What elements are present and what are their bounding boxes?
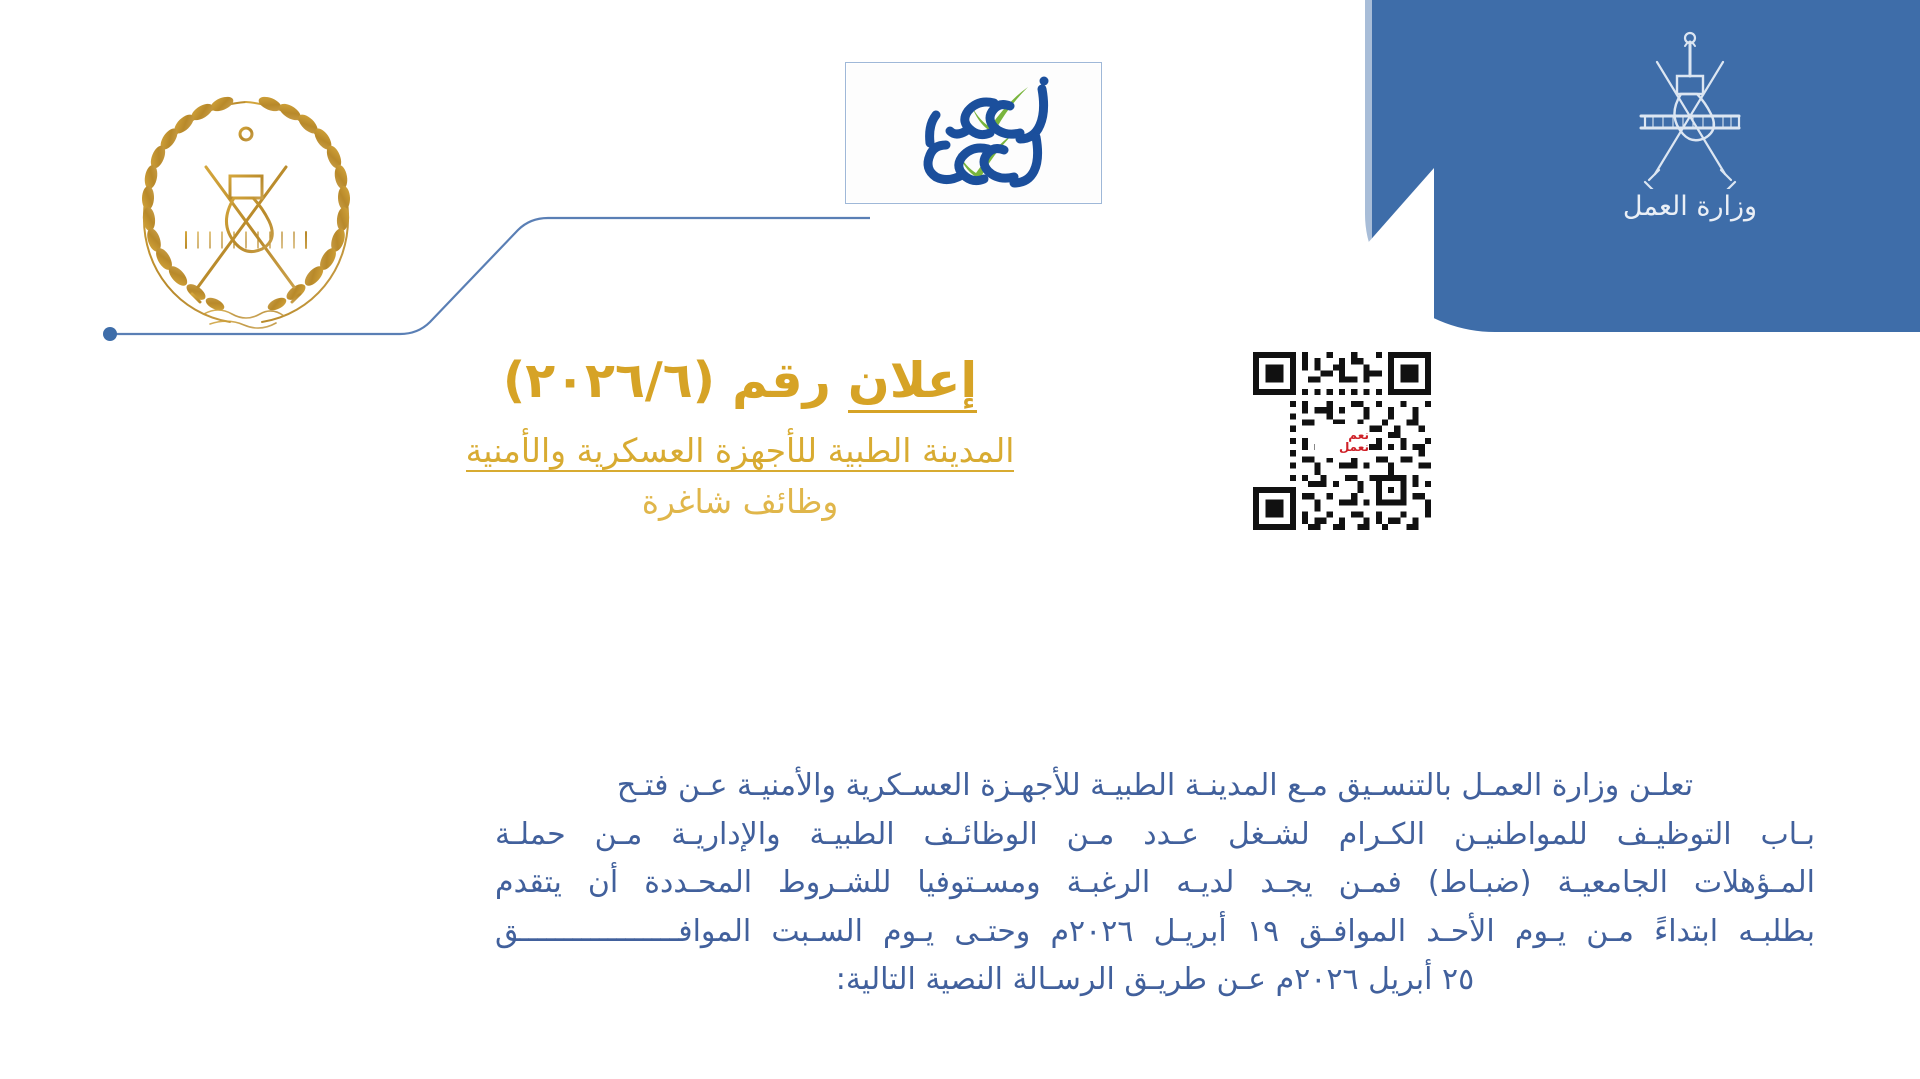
body-line-1: تعلـن وزارة العمـل بالتنسـيق مـع المدينـ… (495, 762, 1815, 811)
header-panel-wedge (1284, 168, 1434, 338)
body-line-2: بـاب التوظيـف للمواطنيـن الكـرام لشـغل ع… (495, 811, 1815, 860)
connector-dot-icon (103, 327, 117, 341)
body-paragraph: تعلـن وزارة العمـل بالتنسـيق مـع المدينـ… (495, 762, 1815, 1005)
subtitle-organization: المدينة الطبية للأجهزة العسكرية والأمنية (0, 426, 1480, 476)
oman-state-emblem-wreath-gold-icon (118, 82, 373, 337)
campaign-logo-box (845, 62, 1102, 204)
announcement-heading-block: إعلان رقم (٢٠٢٦/٦) المدينة الطبية للأجهز… (0, 352, 1480, 527)
body-line-3: المـؤهلات الجامعيـة (ضبـاط) فمـن يجـد لد… (495, 859, 1815, 908)
oman-national-emblem-khanjar-icon (1615, 24, 1765, 189)
body-line-4: بطلبـه ابتداءً مـن يـوم الأحـد الموافـق … (495, 908, 1815, 957)
header-panel-inner-stripe (1363, 0, 1372, 250)
ministry-identity-block: وزارة العمل (1570, 24, 1810, 264)
subtitle-vacancies: وظائف شاغرة (0, 477, 1480, 527)
announcement-body: تعلـن وزارة العمـل بالتنسـيق مـع المدينـ… (495, 762, 1815, 1005)
body-line-5: ٢٥ أبريل ٢٠٢٦م عـن طريـق الرسـالة النصية… (495, 956, 1815, 1005)
ministry-name-label: وزارة العمل (1623, 191, 1757, 222)
nam-namal-campaign-logo-check-icon (846, 63, 1101, 203)
page-title: إعلان رقم (٢٠٢٦/٦) (0, 352, 1480, 410)
